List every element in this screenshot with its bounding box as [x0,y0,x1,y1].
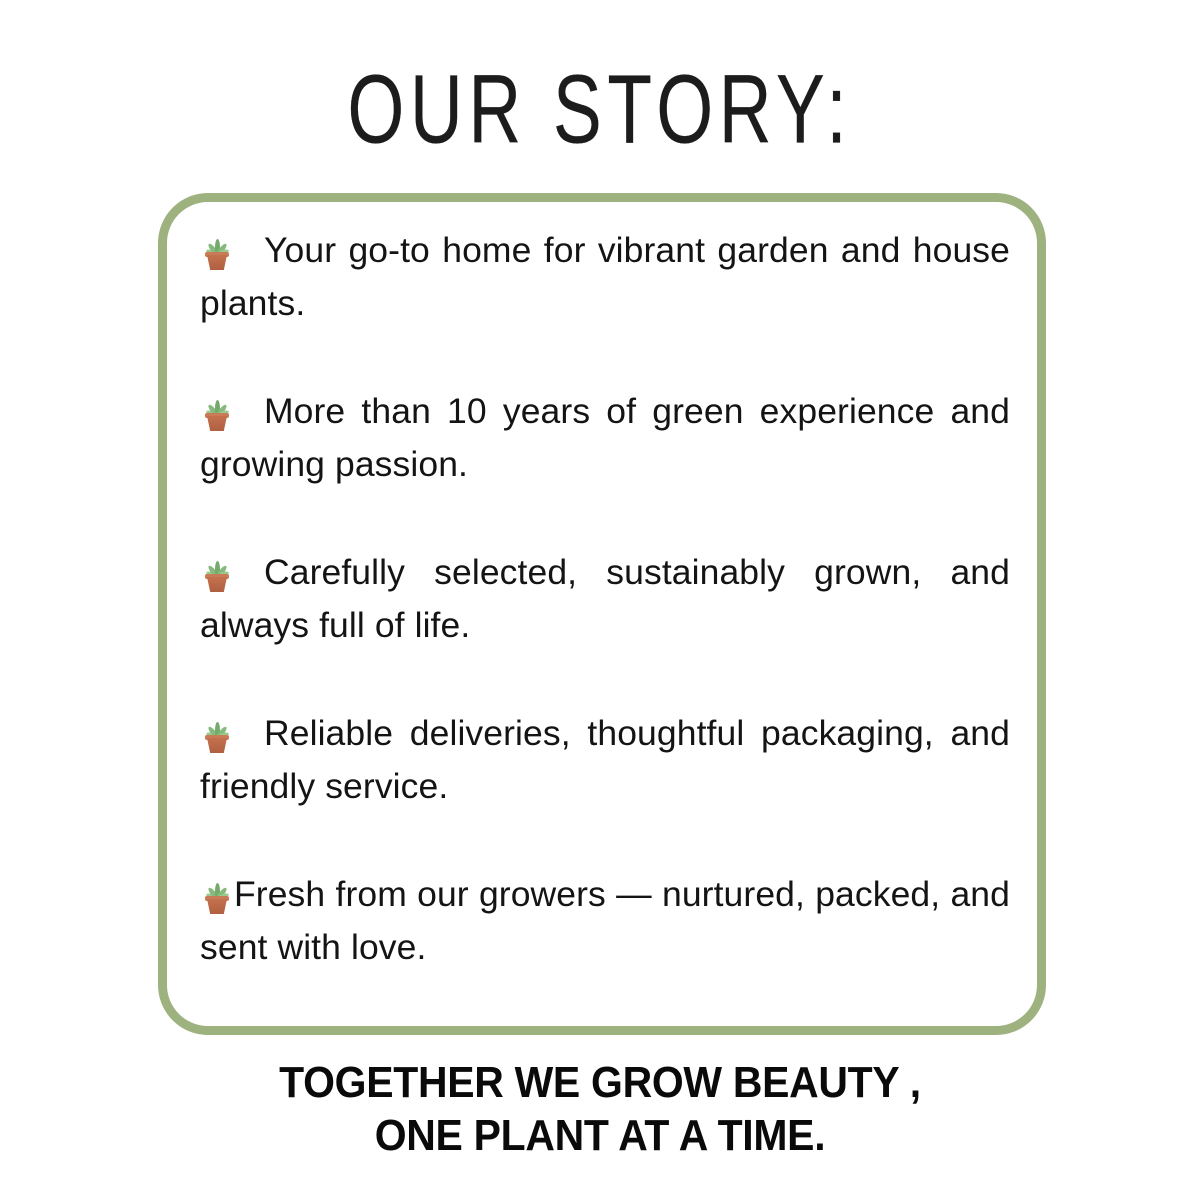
tagline-line-2: ONE PLANT AT A TIME. [42,1109,1158,1162]
page-title-container: OUR STORY: [0,62,1200,138]
list-item: Reliable deliveries, thoughtful packagin… [200,707,1010,813]
page-title: OUR STORY: [348,62,853,159]
tagline-line-1: TOGETHER WE GROW BEAUTY , [42,1056,1158,1109]
list-item-text: Reliable deliveries, thoughtful packagin… [200,713,1010,806]
list-item-text: More than 10 years of green experience a… [200,391,1010,484]
potted-plant-icon [200,878,234,914]
list-item-text: Carefully selected, sustainably grown, a… [200,552,1010,645]
list-item: Carefully selected, sustainably grown, a… [200,546,1010,652]
story-card-content: Your go-to home for vibrant garden and h… [200,224,1010,1014]
potted-plant-icon [200,395,234,431]
story-card: Your go-to home for vibrant garden and h… [158,193,1046,1035]
potted-plant-icon [200,717,234,753]
list-item: Fresh from our growers — nurtured, packe… [200,868,1010,974]
tagline: TOGETHER WE GROW BEAUTY , ONE PLANT AT A… [42,1056,1158,1162]
list-item: Your go-to home for vibrant garden and h… [200,224,1010,330]
list-item: More than 10 years of green experience a… [200,385,1010,491]
potted-plant-icon [200,234,234,270]
list-item-text: Your go-to home for vibrant garden and h… [200,230,1010,323]
potted-plant-icon [200,556,234,592]
list-item-text: Fresh from our growers — nurtured, packe… [200,874,1010,967]
our-story-page: OUR STORY: Your go-to home for vibrant g… [0,0,1200,1200]
